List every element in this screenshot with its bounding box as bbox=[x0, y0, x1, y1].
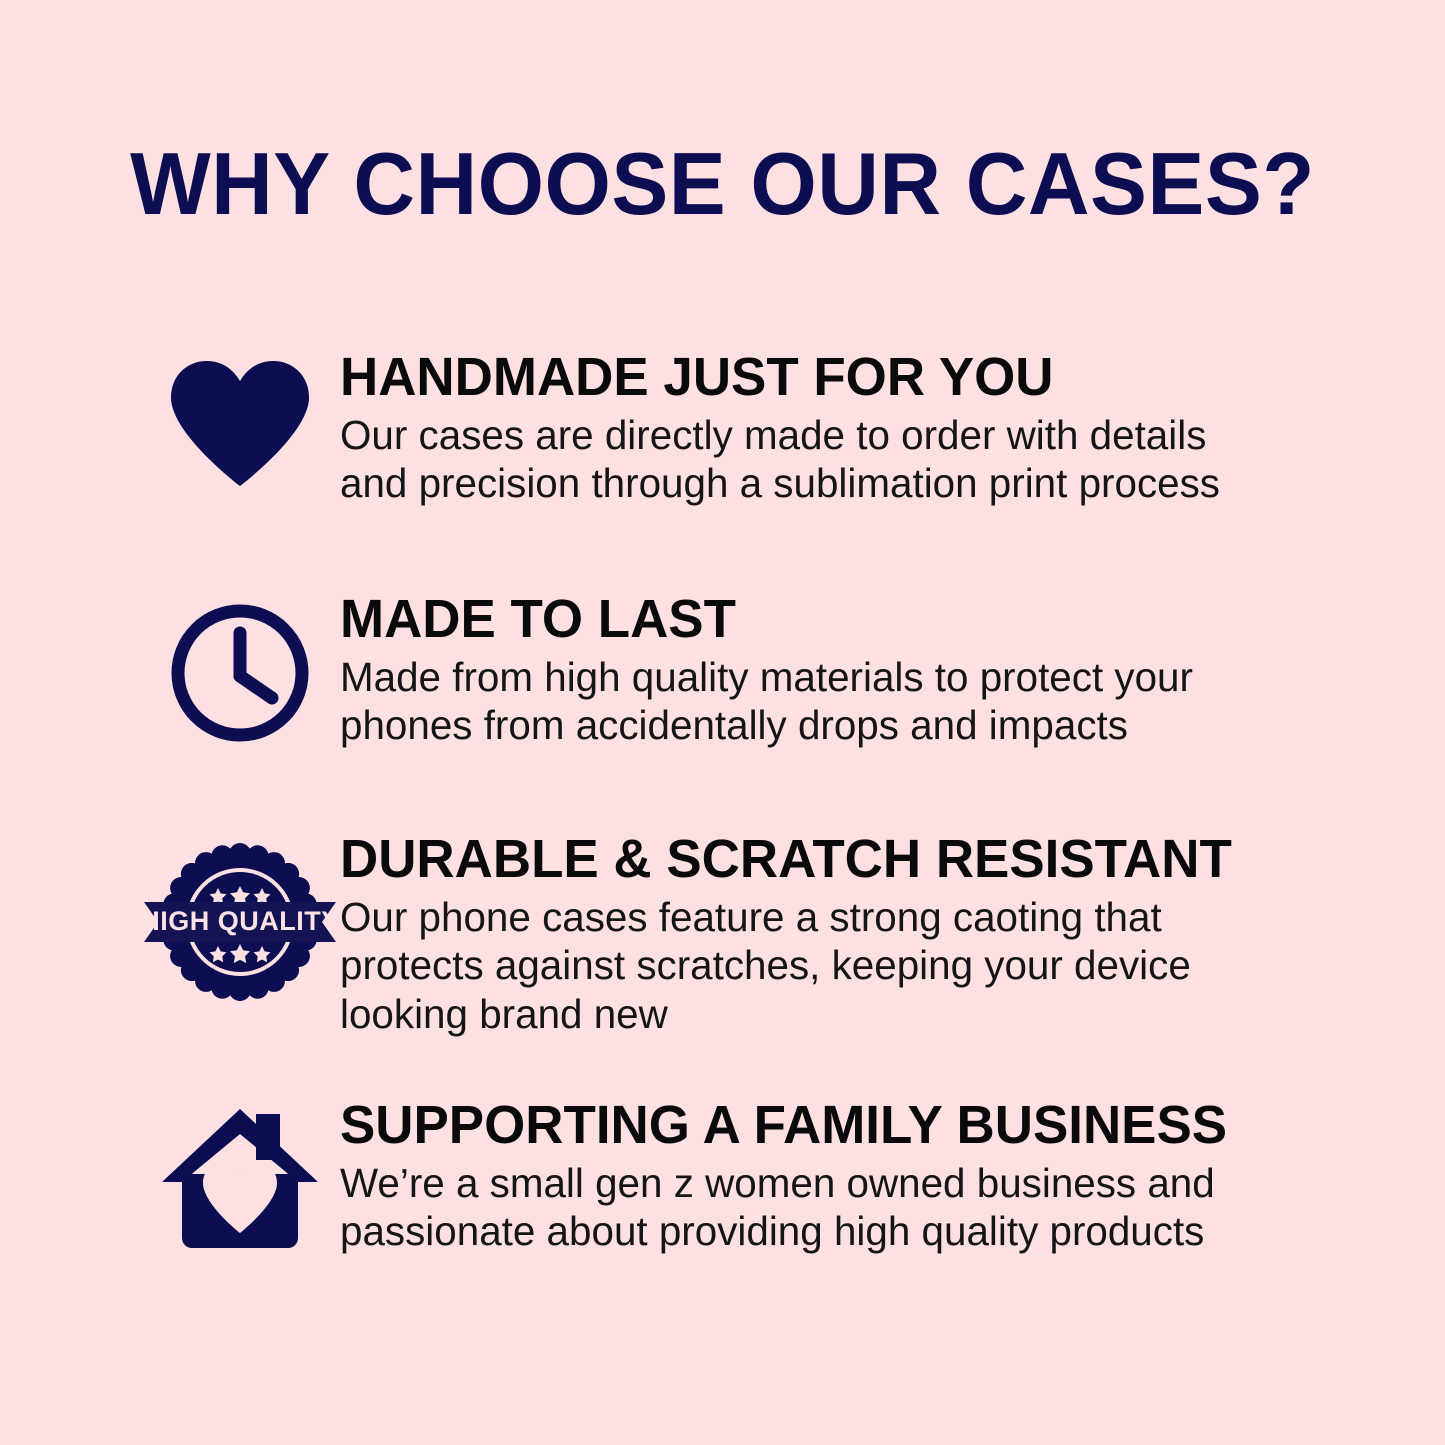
feature-row-handmade: HANDMADE JUST FOR YOU Our cases are dire… bbox=[140, 350, 1233, 508]
high-quality-badge-icon: HIGH QUALITY bbox=[142, 842, 338, 1002]
feature-body-line: phones from accidentally drops and impac… bbox=[340, 701, 1193, 749]
feature-body-line: and precision through a sublimation prin… bbox=[340, 459, 1220, 507]
feature-text-durable: DURABLE & SCRATCH RESISTANT Our phone ca… bbox=[340, 832, 1250, 1038]
feature-row-family-business: SUPPORTING A FAMILY BUSINESS We’re a sma… bbox=[140, 1098, 1245, 1256]
badge-label: HIGH QUALITY bbox=[142, 906, 338, 936]
house-heart-icon bbox=[158, 1104, 322, 1254]
heart-icon bbox=[167, 358, 313, 488]
feature-body-line: Our phone cases feature a strong caoting… bbox=[340, 893, 1227, 941]
feature-title: DURABLE & SCRATCH RESISTANT bbox=[340, 832, 1232, 887]
feature-text-family-business: SUPPORTING A FAMILY BUSINESS We’re a sma… bbox=[340, 1098, 1245, 1256]
feature-row-made-to-last: MADE TO LAST Made from high quality mate… bbox=[140, 592, 1206, 750]
feature-body-line: We’re a small gen z women owned business… bbox=[340, 1159, 1227, 1207]
feature-body-line: Our cases are directly made to order wit… bbox=[340, 411, 1220, 459]
feature-title: SUPPORTING A FAMILY BUSINESS bbox=[340, 1098, 1227, 1153]
feature-body-line: passionate about providing high quality … bbox=[340, 1207, 1227, 1255]
feature-text-handmade: HANDMADE JUST FOR YOU Our cases are dire… bbox=[340, 350, 1233, 508]
badge-icon-cell: HIGH QUALITY bbox=[140, 832, 340, 1002]
heart-icon-cell bbox=[140, 350, 340, 488]
feature-text-made-to-last: MADE TO LAST Made from high quality mate… bbox=[340, 592, 1206, 750]
house-icon-cell bbox=[140, 1098, 340, 1254]
clock-icon-cell bbox=[140, 592, 340, 746]
promo-poster: WHY CHOOSE OUR CASES? HANDMADE JUST FOR … bbox=[0, 0, 1445, 1445]
feature-title: MADE TO LAST bbox=[340, 592, 1189, 647]
page-title: WHY CHOOSE OUR CASES? bbox=[22, 140, 1424, 228]
feature-body-line: protects against scratches, keeping your… bbox=[340, 941, 1227, 989]
feature-body-line: Made from high quality materials to prot… bbox=[340, 653, 1193, 701]
feature-title: HANDMADE JUST FOR YOU bbox=[340, 350, 1216, 405]
feature-row-durable: HIGH QUALITY DURABLE & SCRATCH RESISTANT… bbox=[140, 832, 1250, 1038]
clock-icon bbox=[167, 600, 313, 746]
feature-body-line: looking brand new bbox=[340, 990, 1227, 1038]
